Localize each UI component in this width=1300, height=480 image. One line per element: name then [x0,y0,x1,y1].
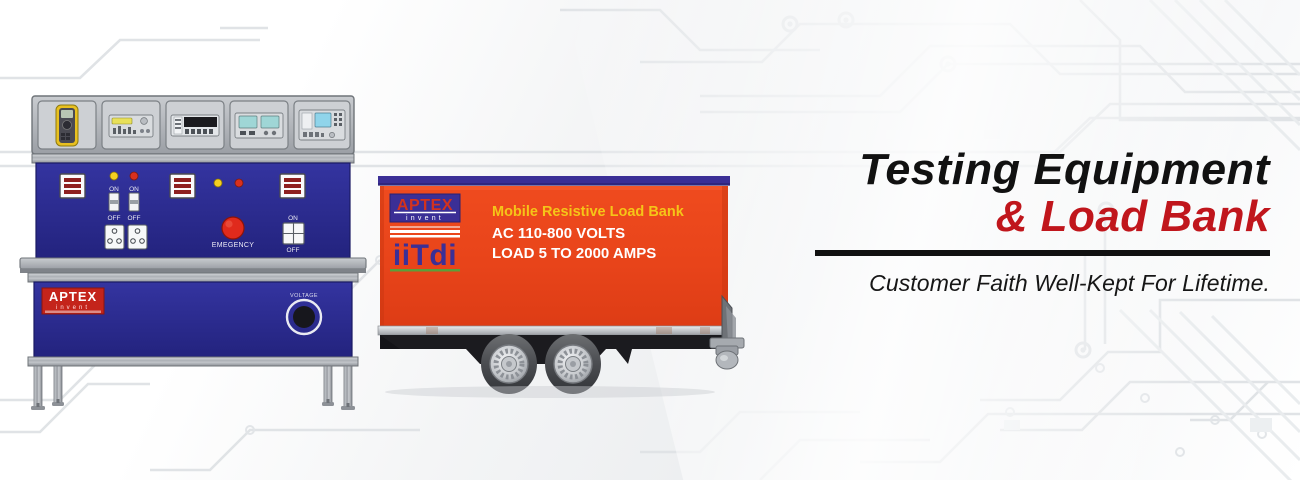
trailer-logo-bar-4 [390,269,460,272]
toggle-switch-1-on-label: ON [109,186,119,193]
toggle-switch-1[interactable]: ON OFF [108,186,121,222]
oscilloscope-icon [299,110,345,140]
emergency-stop-button[interactable] [222,217,244,239]
breaker-block-3[interactable] [280,174,305,198]
trailer-aptex-logo: APTEX invent iiTdi [390,194,460,272]
trailer-logo-bar-3 [390,235,460,238]
testing-equipment-bench: ON OFF ON OFF [18,92,368,417]
bench-aptex-sub: invent [56,305,90,311]
main-power-switch-off-label: OFF [287,247,300,254]
breaker-block-1[interactable] [60,174,85,198]
power-socket-1[interactable] [105,225,124,249]
power-socket-2[interactable] [128,225,147,249]
bench-leg-2 [54,366,62,404]
main-power-switch-on-label: ON [288,215,298,222]
trailer-wheel-rear [545,334,601,394]
trailer-pillar-left [380,186,384,328]
voltage-knob-label: VOLTAGE [290,293,318,299]
bench-leg-3 [324,366,332,404]
headline-block: Testing Equipment & Load Bank Customer F… [740,148,1270,297]
breaker-block-2[interactable] [170,174,195,198]
trailer-ground-shadow [385,386,715,398]
emergency-stop-label: EMEGENCY [212,242,254,249]
instrument-shelf [32,96,354,154]
trailer-spec-load: LOAD 5 TO 2000 AMPS [492,245,656,262]
trailer-logo-bar-2 [390,230,460,233]
headline-tagline: Customer Faith Well-Kept For Lifetime. [740,270,1270,297]
banner-root: ON OFF ON OFF [0,0,1300,480]
indicator-yellow-1 [110,172,118,180]
trailer-wheel-front [481,334,537,394]
trailer-logo-sub: invent [406,215,444,222]
trailer-spec-voltage: AC 110-800 VOLTS [492,225,625,242]
dual-channel-meter-icon [235,113,283,138]
mobile-load-bank-trailer: APTEX invent iiTdi Mobile Resistive Load… [370,168,750,398]
trailer-support-bracket [616,349,632,364]
headline-divider [815,250,1270,256]
trailer-logo-bar-1 [390,226,460,228]
trailer-roof-shadow [378,183,730,186]
trailer-logo-mark: iiTdi [393,239,457,272]
indicator-yellow-2 [214,179,222,187]
trailer-title: Mobile Resistive Load Bank [492,204,685,220]
bench-leg-1 [34,366,42,408]
indicator-red-2 [235,179,243,187]
digital-counter-icon [171,115,219,136]
bench-power-supply-icon [109,115,153,137]
headline-line-2: & Load Bank [740,195,1270,240]
bench-aptex-brand: APTEX [49,289,97,304]
bench-aptex-logo: APTEX invent [42,288,104,314]
bench-legs [31,366,355,410]
trailer-logo-brand: APTEX [397,197,453,214]
trailer-body-highlight [380,186,728,190]
headline-line-1: Testing Equipment [729,148,1270,193]
indicator-red-1 [130,172,138,180]
toggle-switch-2-on-label: ON [129,186,139,193]
shelf-support-rail [32,154,354,163]
control-panel: ON OFF ON OFF [36,163,350,258]
toggle-switch-2-off-label: OFF [128,215,141,222]
toggle-switch-1-off-label: OFF [108,215,121,222]
bench-cabinet: APTEX invent VOLTAGE [28,273,358,366]
toggle-switch-2[interactable]: ON OFF [128,186,141,222]
handheld-multimeter-icon [56,105,78,146]
bench-leg-4 [344,366,352,408]
